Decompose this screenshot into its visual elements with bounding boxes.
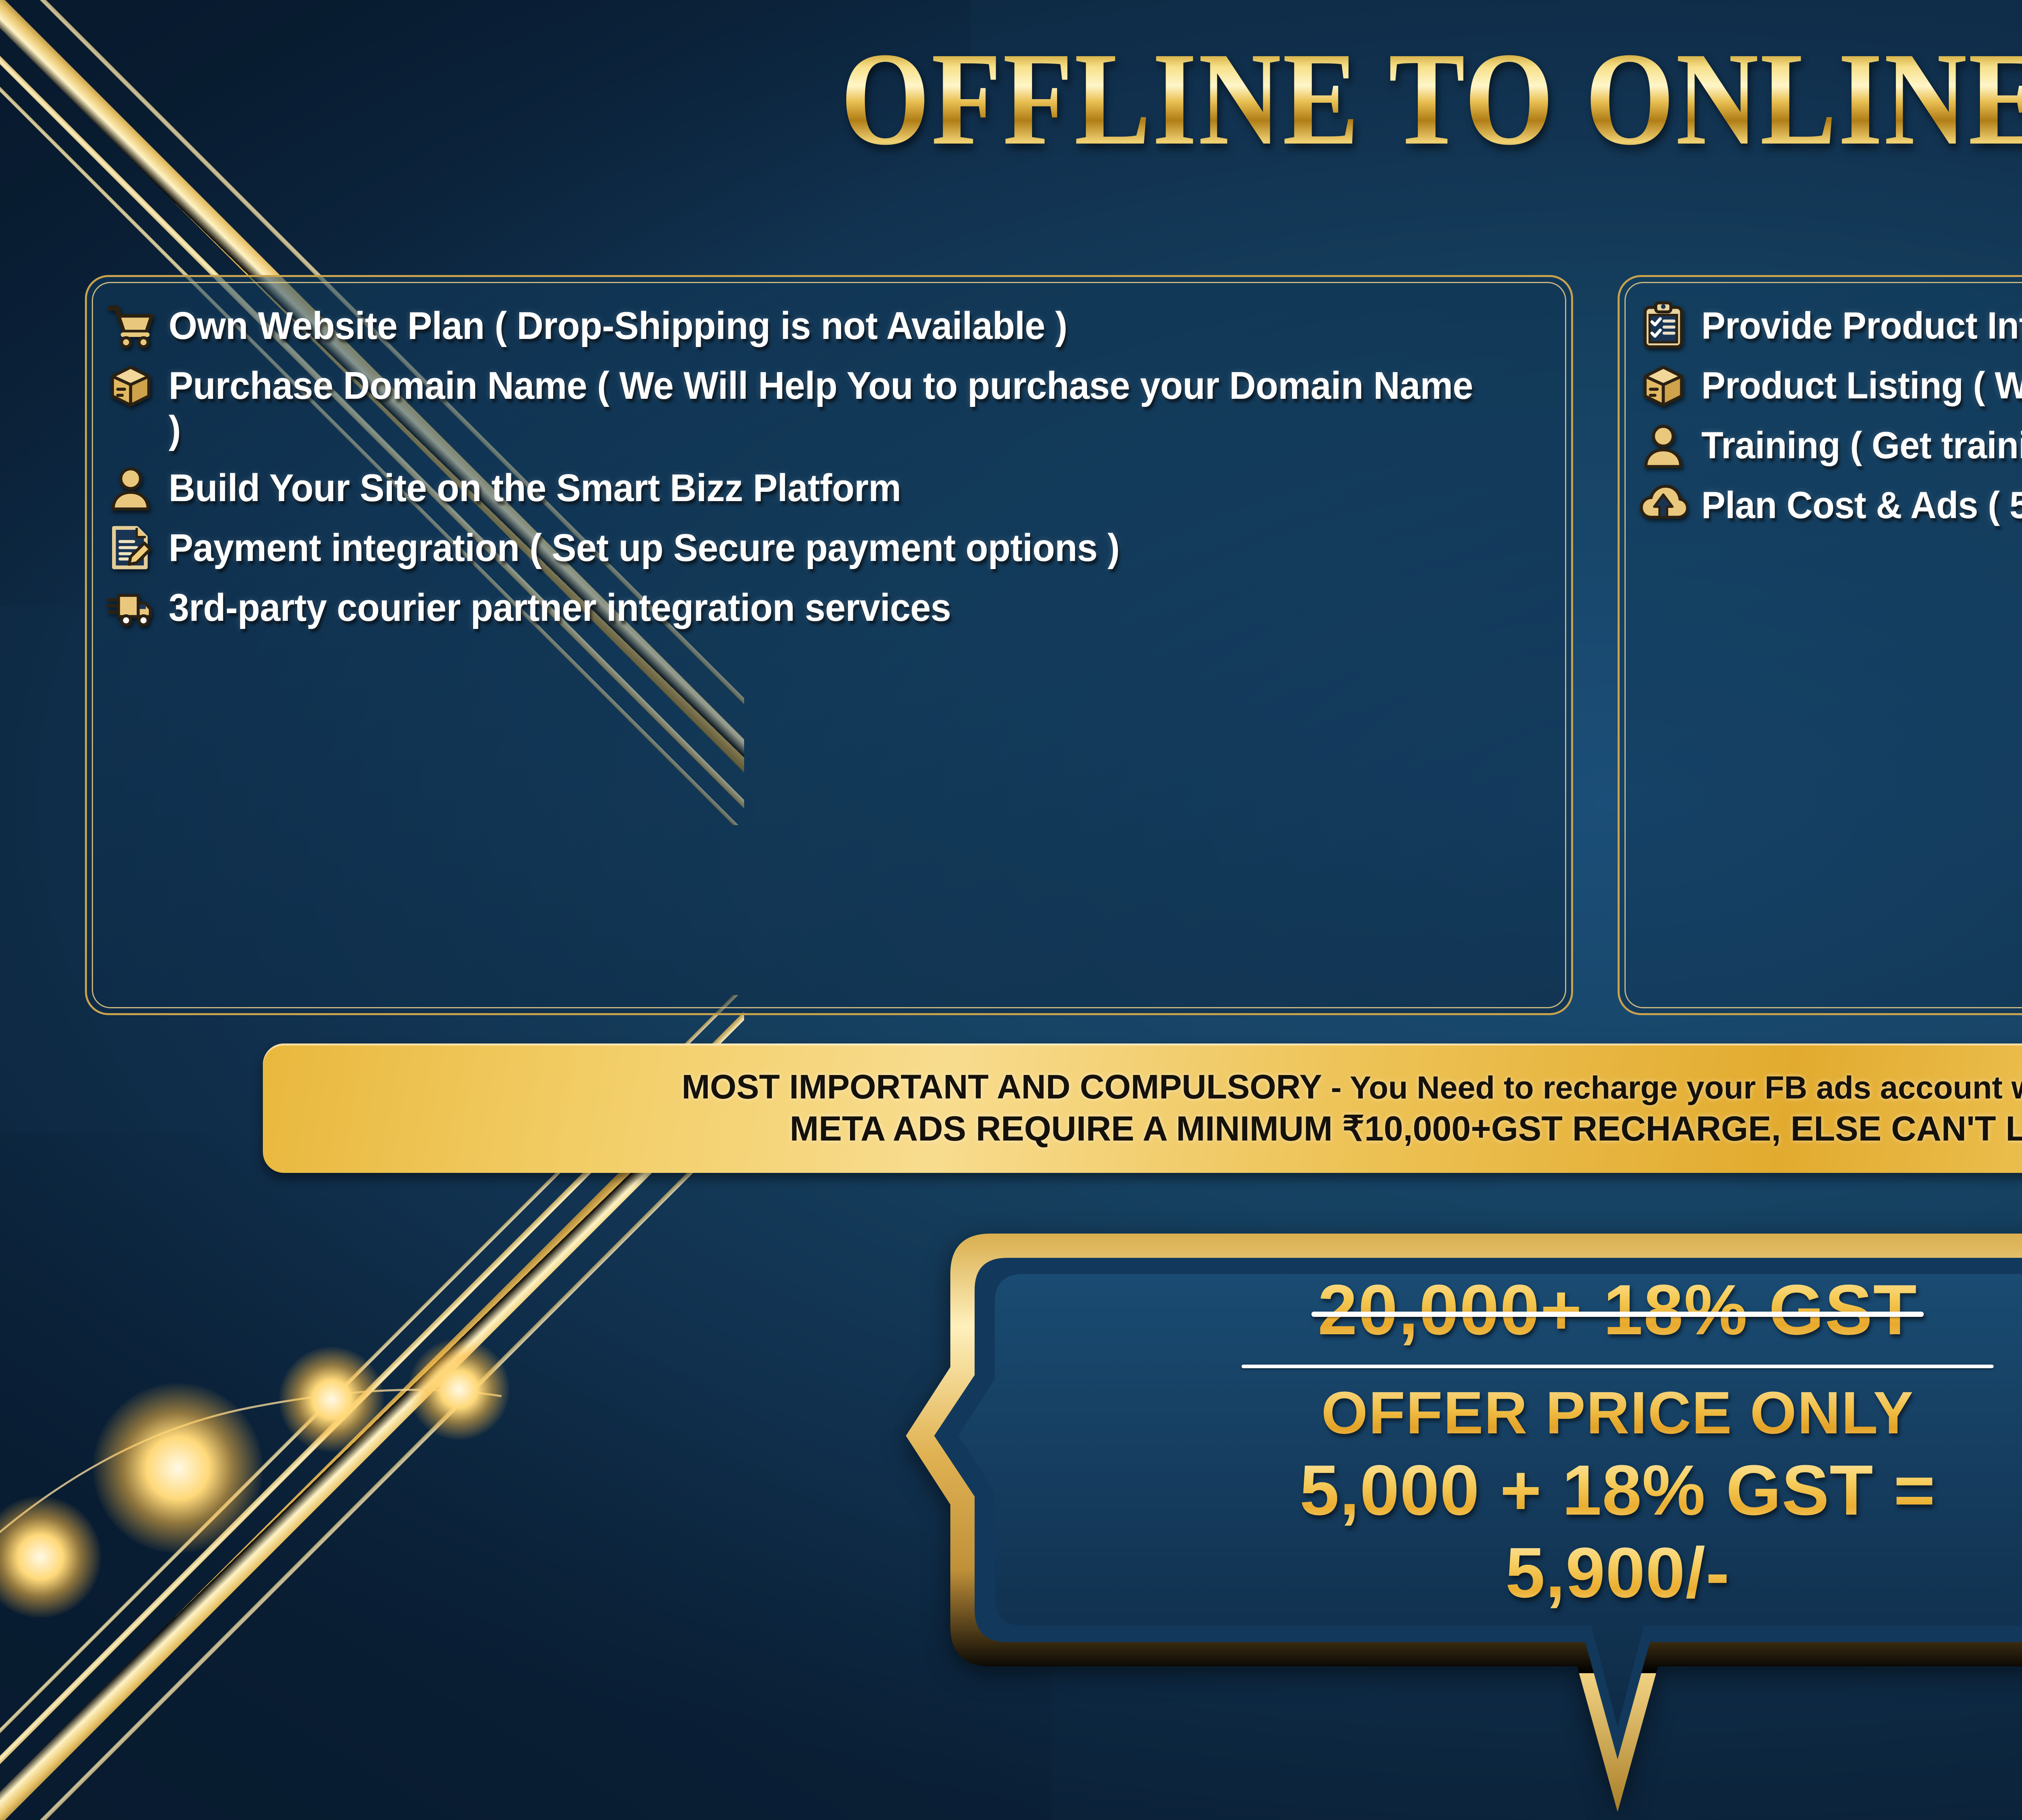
notice-banner-line-2: META ADS REQUIRE A MINIMUM ₹10,000+GST R… <box>790 1110 2022 1148</box>
list-item-label: Product Listing ( We will List 20 produc… <box>1701 364 2022 407</box>
list-item-label: Own Website Plan ( Drop-Shipping is not … <box>169 304 1067 348</box>
list-item-label: Payment integration ( Set up Secure paym… <box>169 526 1119 570</box>
feature-panel-left: Own Website Plan ( Drop-Shipping is not … <box>85 275 1573 1015</box>
price-badge-content: 20,000+ 18% GST OFFER PRICE ONLY 5,000 +… <box>1011 1262 2022 1687</box>
feature-list-right: Provide Product Info ( Client provides p… <box>1639 304 2022 529</box>
notice-banner: MOST IMPORTANT AND COMPULSORY - You Need… <box>263 1043 2022 1173</box>
new-price-line-2: 5,900/- <box>1506 1534 1730 1613</box>
clipboard-checklist-icon <box>1639 301 1688 350</box>
bokeh-light-string <box>0 1246 607 1610</box>
page-title-wrapper: OFFLINE TO ONLINE PLAN <box>0 32 2022 166</box>
list-item-label: 3rd-party courier partner integration se… <box>169 586 951 630</box>
list-item-label: Provide Product Info ( Client provides p… <box>1701 304 2022 347</box>
memo-pencil-icon <box>106 523 155 572</box>
user-silhouette-icon <box>106 463 155 512</box>
notice-banner-emphasis: MOST IMPORTANT AND COMPULSORY <box>682 1068 1322 1106</box>
list-item: Purchase Domain Name ( We Will Help You … <box>106 364 1548 452</box>
page-title: OFFLINE TO ONLINE PLAN <box>841 32 2022 166</box>
feature-panels: Own Website Plan ( Drop-Shipping is not … <box>85 275 2022 1015</box>
delivery-truck-icon <box>106 583 155 632</box>
list-item-label: Plan Cost & Ads ( 5,000+ tax ( Plan Fee … <box>1701 483 2022 527</box>
notice-banner-rest: - You Need to recharge your FB ads accou… <box>1322 1069 2022 1105</box>
offer-label: OFFER PRICE ONLY <box>1321 1379 1914 1448</box>
list-item: Product Listing ( We will List 20 produc… <box>1639 364 2022 410</box>
feature-list-left: Own Website Plan ( Drop-Shipping is not … <box>106 304 1548 632</box>
package-box-icon <box>1639 361 1688 410</box>
list-item: Training ( Get training for adding more … <box>1639 423 2022 470</box>
list-item: 3rd-party courier partner integration se… <box>106 586 1548 632</box>
list-item-label: Purchase Domain Name ( We Will Help You … <box>169 364 1479 452</box>
old-price: 20,000+ 18% GST <box>1318 1269 1918 1351</box>
list-item-label: Build Your Site on the Smart Bizz Platfo… <box>169 466 901 510</box>
list-item: Provide Product Info ( Client provides p… <box>1639 304 2022 350</box>
price-divider <box>1242 1365 1994 1368</box>
list-item-label: Training ( Get training for adding more … <box>1701 423 2022 467</box>
new-price-line-1: 5,000 + 18% GST = <box>1300 1452 1936 1530</box>
user-silhouette-icon <box>1639 421 1688 470</box>
feature-panel-right: Provide Product Info ( Client provides p… <box>1618 275 2022 1015</box>
promo-poster: OFFLINE TO ONLINE PLAN <box>0 0 2022 1820</box>
price-badge: 20,000+ 18% GST OFFER PRICE ONLY 5,000 +… <box>890 1221 2022 1820</box>
list-item: Payment integration ( Set up Secure paym… <box>106 526 1548 572</box>
list-item: Own Website Plan ( Drop-Shipping is not … <box>106 304 1548 350</box>
list-item: Build Your Site on the Smart Bizz Platfo… <box>106 466 1548 512</box>
package-box-icon <box>106 361 155 410</box>
list-item: Plan Cost & Ads ( 5,000+ tax ( Plan Fee … <box>1639 483 2022 529</box>
shopping-cart-icon <box>106 301 155 350</box>
cloud-upload-icon <box>1639 481 1688 529</box>
notice-banner-line-1: MOST IMPORTANT AND COMPULSORY - You Need… <box>682 1069 2022 1105</box>
